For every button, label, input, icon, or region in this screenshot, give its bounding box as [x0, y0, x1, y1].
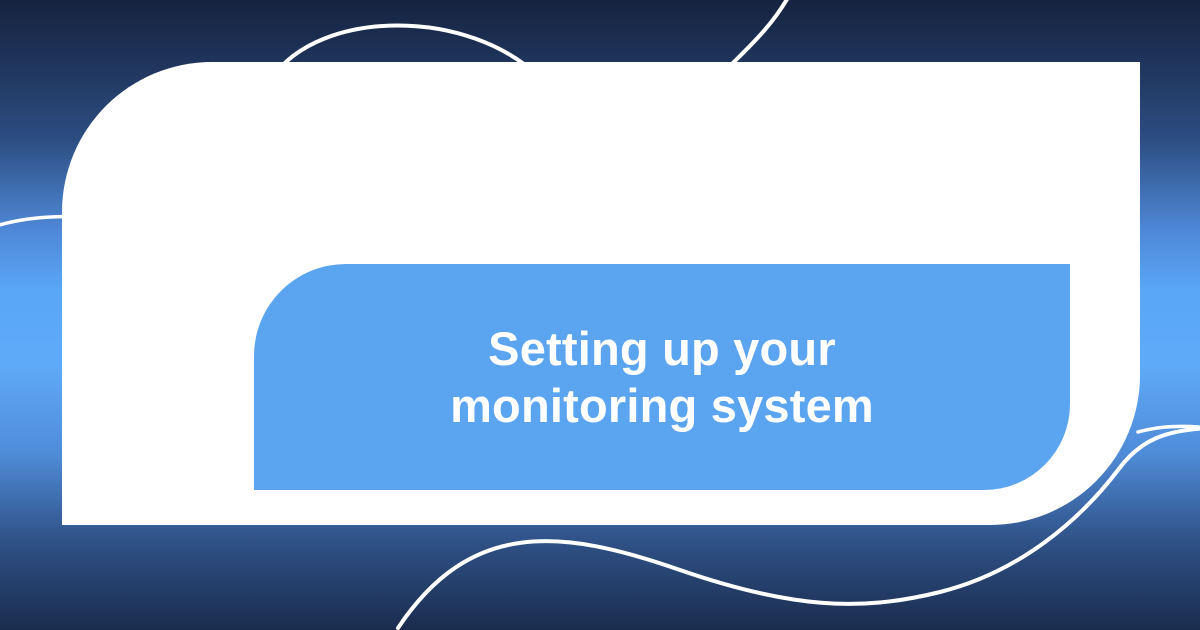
title-panel: Setting up your monitoring system	[254, 264, 1070, 490]
page-title: Setting up your monitoring system	[342, 320, 982, 435]
banner-canvas: Setting up your monitoring system	[0, 0, 1200, 630]
content-card: Setting up your monitoring system	[62, 62, 1140, 525]
